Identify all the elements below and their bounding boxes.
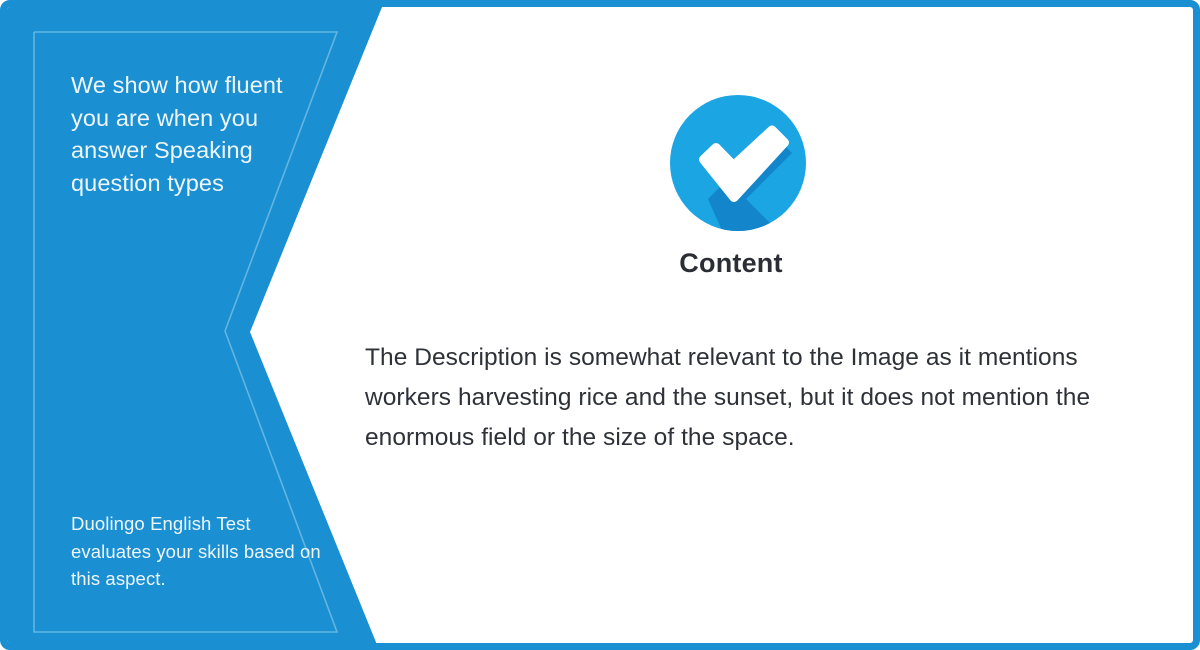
slide-root: We show how fluent you are when you answ…	[0, 0, 1200, 650]
check-circle-icon	[664, 89, 812, 237]
card-title: Content	[363, 248, 1099, 279]
content-card: Content The Description is somewhat rele…	[363, 7, 1183, 650]
card-body-text: The Description is somewhat relevant to …	[365, 338, 1165, 458]
panel-top-caption: We show how fluent you are when you answ…	[71, 69, 311, 199]
panel-bottom-caption: Duolingo English Test evaluates your ski…	[71, 510, 321, 593]
